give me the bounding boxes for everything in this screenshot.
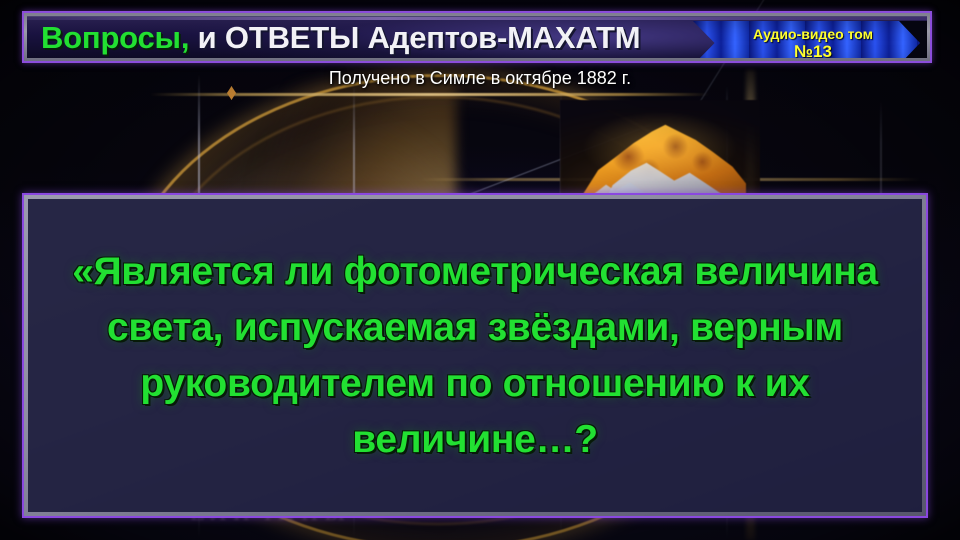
ribbon-label: Аудио-видео том №13 xyxy=(723,26,903,58)
ribbon-label-volume: №13 xyxy=(723,43,903,58)
quote-text: «Является ли фотометрическая величина св… xyxy=(28,244,922,468)
title-segment-comma: , xyxy=(181,20,189,55)
page-title: Вопросы, и ОТВЕТЫ Адептов-МАХАТМ xyxy=(41,20,640,56)
presentation-slide: ЕЛИЧИНЫ a b Вопросы, и ОТВЕТЫ Адептов-МА… xyxy=(0,0,960,540)
ribbon-label-line1: Аудио-видео том xyxy=(723,26,903,43)
subtitle-received-line: Получено в Симле в октябре 1882 г. xyxy=(0,68,960,89)
header-banner-inner: Вопросы, и ОТВЕТЫ Адептов-МАХАТМ Аудио-в… xyxy=(27,16,927,58)
header-banner: Вопросы, и ОТВЕТЫ Адептов-МАХАТМ Аудио-в… xyxy=(22,11,932,63)
volume-ribbon-badge: Аудио-видео том №13 xyxy=(693,21,927,58)
title-segment-questions: Вопросы xyxy=(41,20,181,55)
title-segment-answers: и ОТВЕТЫ Адептов-МАХАТМ xyxy=(189,20,640,55)
quote-panel-inner: «Является ли фотометрическая величина св… xyxy=(28,199,922,512)
quote-panel: «Является ли фотометрическая величина св… xyxy=(22,193,928,518)
